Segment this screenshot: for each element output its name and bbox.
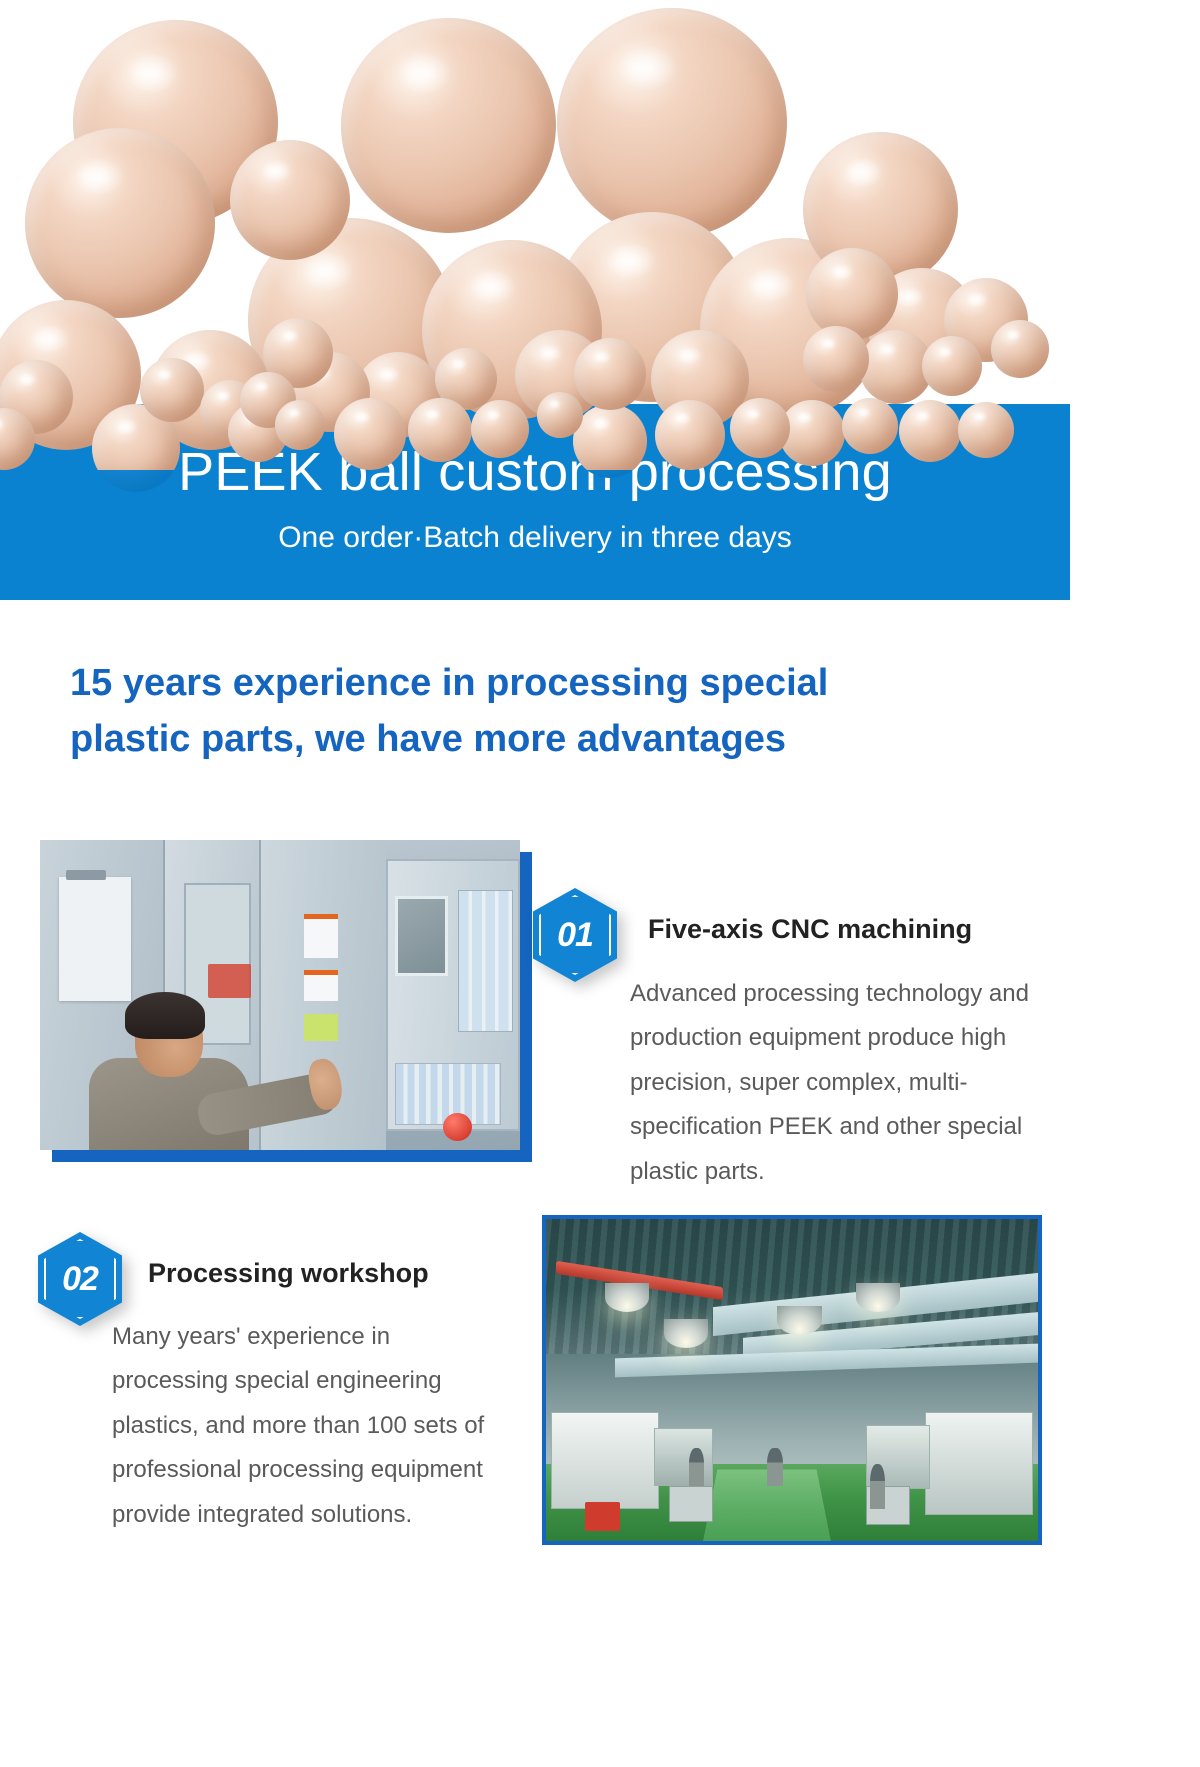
peek-ball — [341, 18, 556, 233]
workshop-photo — [546, 1219, 1038, 1541]
peek-ball — [537, 392, 583, 438]
card-body-01: Advanced processing technology and produ… — [630, 972, 1066, 1194]
banner-subtitle: One order·Batch delivery in three days — [0, 521, 1070, 554]
peek-ball — [806, 248, 898, 340]
peek-ball — [334, 398, 406, 470]
badge-number-02: 02 — [38, 1232, 122, 1326]
card-title-02: Processing workshop — [148, 1258, 548, 1289]
section-heading-line-2: plastic parts, we have more advantages — [70, 711, 1030, 767]
peek-ball — [25, 128, 215, 318]
card-title-01: Five-axis CNC machining — [648, 914, 1068, 945]
peek-ball — [230, 140, 350, 260]
cnc-photo-frame — [40, 840, 520, 1150]
section-heading-line-1: 15 years experience in processing specia… — [70, 655, 1030, 711]
peek-ball — [655, 400, 725, 470]
peek-ball — [557, 8, 787, 238]
peek-ball — [471, 400, 529, 458]
peek-ball — [958, 402, 1014, 458]
hero-section: PEEK ball custom processing One order·Ba… — [0, 0, 1070, 676]
peek-ball — [408, 398, 472, 462]
badge-hexagon-02: 02 — [38, 1232, 122, 1326]
peek-ball — [922, 336, 982, 396]
peek-ball — [573, 404, 647, 470]
card-body-02: Many years' experience in processing spe… — [112, 1315, 512, 1537]
badge-hexagon-01: 01 — [533, 888, 617, 982]
peek-ball — [140, 358, 204, 422]
peek-ball — [803, 326, 869, 392]
section-heading: 15 years experience in processing specia… — [70, 655, 1030, 767]
peek-ball — [991, 320, 1049, 378]
peek-ball — [842, 398, 898, 454]
badge-number-01: 01 — [533, 888, 617, 982]
cnc-operator-photo — [40, 840, 520, 1150]
peek-ball — [899, 400, 961, 462]
peek-ball — [730, 398, 790, 458]
workshop-photo-frame — [542, 1215, 1034, 1537]
peek-balls-image — [0, 0, 1070, 470]
peek-ball — [574, 338, 646, 410]
peek-ball — [275, 400, 325, 450]
